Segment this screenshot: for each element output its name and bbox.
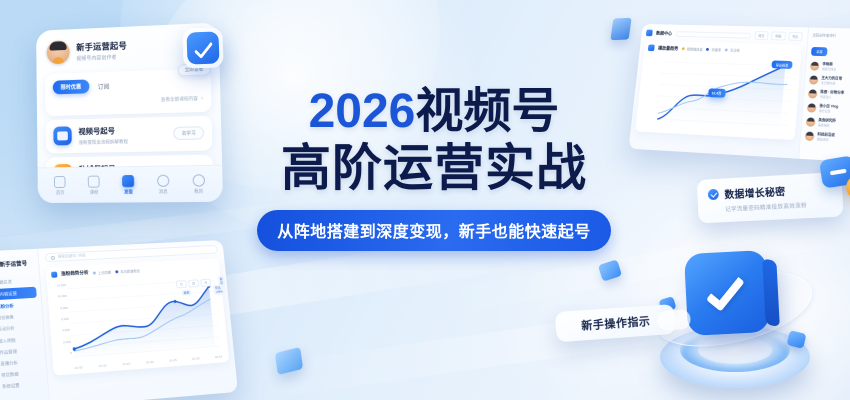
- check-circle-icon: [708, 189, 719, 200]
- profile-subtitle: 视频号内容创作者: [76, 53, 127, 62]
- dashboard-left-mockup: 新手运营号 数据总览 内容运营 涨粉分析 粉丝画像 互动分析 收入明细 作品管理…: [0, 240, 238, 400]
- avatar: [805, 131, 815, 141]
- promo-link[interactable]: 查看全部课程内容 ›: [53, 96, 203, 106]
- headline-product: 视频号: [415, 85, 559, 138]
- user-subtitle: 生活类内容: [821, 81, 850, 86]
- nav-item-discover[interactable]: 发现: [122, 175, 134, 195]
- decor-cube: [598, 259, 622, 281]
- message-icon: [157, 174, 169, 186]
- x-tick: 02-04: [215, 355, 223, 359]
- poster-canvas: 新手运营起号 视频号内容创作者 立即查看 限时优惠 订阅 查看全部课程内容 › …: [0, 0, 850, 400]
- nav-item-message[interactable]: 消息: [157, 174, 170, 194]
- decor-cube: [610, 18, 631, 40]
- logo-text: 数据中心: [656, 30, 673, 36]
- chart-title: 播放量趋势: [658, 45, 679, 51]
- dashboard-right-main: 数据中心 概览 明细 导出 播放量趋势 视频播放量 完播率 互动率 导出报表: [629, 24, 809, 159]
- x-tick: 01-25: [169, 358, 177, 363]
- dashboard-right-topbar: 数据中心 概览 明细 导出: [646, 29, 803, 41]
- list-item-action[interactable]: 去学习: [173, 126, 204, 140]
- avatar: [807, 103, 817, 112]
- profile-name: 新手运营起号: [76, 39, 127, 53]
- video-icon: [53, 127, 71, 146]
- sidebar-title: 活跃创作者排行: [812, 32, 836, 37]
- y-tick: 2,000: [56, 339, 70, 344]
- y-tick: 6,000: [55, 317, 69, 322]
- nav-label: 首页: [56, 189, 65, 195]
- sidebar-item-label: 系统设置: [2, 383, 20, 391]
- list-item-subtitle: 涨粉变现全流程拆解教程: [78, 138, 166, 146]
- legend-label: 完播率: [711, 47, 721, 52]
- user-subtitle: 美食探店: [818, 123, 850, 129]
- user-subtitle: 视频号博主: [822, 67, 850, 72]
- sidebar-item-label: 带货数据: [1, 371, 19, 379]
- topbar-tabs: 概览 明细 导出: [754, 31, 802, 41]
- legend-item: 本月新增粉丝: [115, 268, 140, 274]
- avatar: [809, 75, 819, 84]
- data-card-icon: [819, 155, 850, 189]
- promo-text: 订阅: [98, 81, 110, 90]
- chart-panel: 播放量趋势 视频播放量 完播率 互动率 导出报表: [635, 41, 802, 140]
- list-item-title: 视频号起号: [78, 124, 166, 137]
- nav-label: 课程: [90, 189, 99, 195]
- nav-item-profile[interactable]: 我的: [192, 174, 205, 195]
- logo-text: 新手运营号: [0, 259, 27, 268]
- legend-item: 完播率: [706, 47, 721, 52]
- nav-label: 我的: [194, 188, 203, 194]
- x-tick: 01-15: [122, 362, 130, 367]
- avatar: [810, 61, 820, 70]
- sidebar-item-label: 收入明细: [0, 337, 16, 344]
- list-item[interactable]: 科技前沿说数码测评2.9万: [805, 128, 850, 146]
- tab-detail[interactable]: 明细: [771, 31, 786, 40]
- profile-icon: [192, 174, 205, 186]
- sidebar-item-label: 粉丝画像: [0, 314, 14, 321]
- legend-item: 互动率: [725, 48, 740, 53]
- badge-data-growth: 数据增长秘密 记学流量密码精准投放高效涨粉: [697, 172, 844, 224]
- dashboard-main: 搜索关键词 / 内容 涨粉趋势分析 上月同期 本月新增粉丝 日 周 月 1: [38, 240, 238, 400]
- promo-chip[interactable]: 限时优惠: [53, 79, 89, 94]
- sidebar-header: 活跃创作者排行 查看全部: [812, 32, 850, 38]
- headline-line-1: 2026视频号: [228, 86, 640, 138]
- legend-label: 视频播放量: [687, 46, 703, 51]
- line-chart: 日 周 月 12,000 10,000 8,000 6,000 4,000 2,…: [52, 273, 224, 366]
- search-input[interactable]: [675, 31, 751, 38]
- chart-tooltip: 12.4万: [707, 89, 725, 98]
- chart-icon: [648, 44, 655, 51]
- badge-title: 数据增长秘密: [724, 183, 786, 201]
- headline-year: 2026: [309, 85, 416, 138]
- legend-label: 上月同期: [98, 269, 112, 275]
- y-tick: 10,000: [53, 294, 67, 299]
- headline-line-2: 高阶运营实战: [228, 140, 640, 196]
- logo-icon: [646, 30, 653, 37]
- avatar: [47, 40, 70, 64]
- user-subtitle: 数码测评: [817, 137, 850, 143]
- export-report-button[interactable]: 导出报表: [772, 60, 793, 68]
- checkmark-icon: [684, 250, 770, 336]
- poster-headline: 2026视频号 高阶运营实战 从阵地搭建到深度变现，新手也能快速起号: [228, 86, 640, 251]
- sidebar-item-label: 内容运营: [0, 291, 17, 298]
- legend-label: 互动率: [730, 48, 740, 53]
- chevron-right-icon: ›: [201, 96, 203, 102]
- sidebar-item-label: 互动分析: [0, 326, 15, 333]
- sidebar-item-label: 直播分析: [0, 360, 18, 367]
- home-icon: [54, 175, 66, 187]
- chart-icon: [51, 272, 57, 278]
- decor-cube: [275, 347, 303, 375]
- nav-label: 消息: [159, 188, 168, 194]
- sidebar-item[interactable]: 系统设置: [0, 378, 48, 394]
- bottom-nav: 首页 课程 发现 消息 我的: [38, 165, 224, 203]
- dashboard-right-mockup: 数据中心 概览 明细 导出 播放量趋势 视频播放量 完播率 互动率 导出报表: [629, 24, 850, 163]
- period-chip[interactable]: 本周: [811, 47, 828, 56]
- x-tick: 01-30: [192, 356, 200, 360]
- user-subtitle: 带货达人: [820, 95, 850, 101]
- y-tick: 8,000: [54, 305, 68, 310]
- promo-row: 限时优惠 订阅: [53, 76, 203, 95]
- x-tick: 01-20: [146, 360, 154, 365]
- headline-subtitle-pill: 从阵地搭建到深度变现，新手也能快速起号: [257, 210, 611, 251]
- user-subtitle: 旅行记录: [819, 109, 850, 115]
- x-tick: 01-10: [99, 363, 107, 368]
- legend-item: 上月同期: [92, 269, 111, 275]
- discover-icon: [122, 175, 134, 187]
- range-button-week[interactable]: 周: [188, 279, 199, 287]
- badge-subtitle: 记学流量密码精准投放高效涨粉: [709, 200, 833, 214]
- x-tick: 01-05: [75, 365, 83, 370]
- tab-overview[interactable]: 概览: [754, 31, 769, 40]
- list-item[interactable]: 视频号起号 涨粉变现全流程拆解教程 去学习: [46, 116, 213, 153]
- nav-label: 发现: [124, 189, 133, 195]
- search-icon: [51, 255, 55, 259]
- sidebar-item-label: 数据总览: [0, 279, 12, 286]
- dashboard-right-sidebar: 活跃创作者排行 查看全部 本周 李晓萌视频号博主8.2万 王大力的日常生活类内容…: [798, 27, 850, 163]
- y-tick: 12,000: [52, 283, 66, 288]
- nav-item-home[interactable]: 首页: [54, 175, 66, 195]
- badge-tail: [657, 309, 691, 331]
- badge-title: 新手操作指示: [581, 313, 651, 334]
- legend-item: 视频播放量: [682, 46, 703, 51]
- chart-annotation: 峰值: [181, 289, 191, 295]
- range-button-day[interactable]: 日: [176, 280, 187, 288]
- line-chart: 导出报表: [639, 54, 797, 136]
- nav-item-course[interactable]: 课程: [88, 175, 100, 195]
- legend-label: 本月新增粉丝: [120, 268, 140, 274]
- chart-title: 涨粉趋势分析: [61, 270, 89, 277]
- search-placeholder: 搜索关键词 / 内容: [58, 253, 86, 259]
- range-button-month[interactable]: 月: [200, 279, 211, 287]
- wechat-channels-check-icon: [182, 27, 223, 68]
- avatar: [806, 117, 816, 127]
- sidebar-item-label: 作品管理: [0, 348, 17, 355]
- course-icon: [88, 175, 100, 187]
- y-tick: 4,000: [55, 328, 69, 333]
- chart-panel: 涨粉趋势分析 上月同期 本月新增粉丝 日 周 月 12,000 10,000 8…: [46, 258, 230, 375]
- avatar: [808, 89, 818, 98]
- promo-link-label: 查看全部课程内容: [161, 96, 198, 103]
- chart-annotation: 环比 +68%: [213, 285, 225, 295]
- sidebar-item-label: 涨粉分析: [0, 303, 14, 310]
- tab-export[interactable]: 导出: [788, 32, 803, 41]
